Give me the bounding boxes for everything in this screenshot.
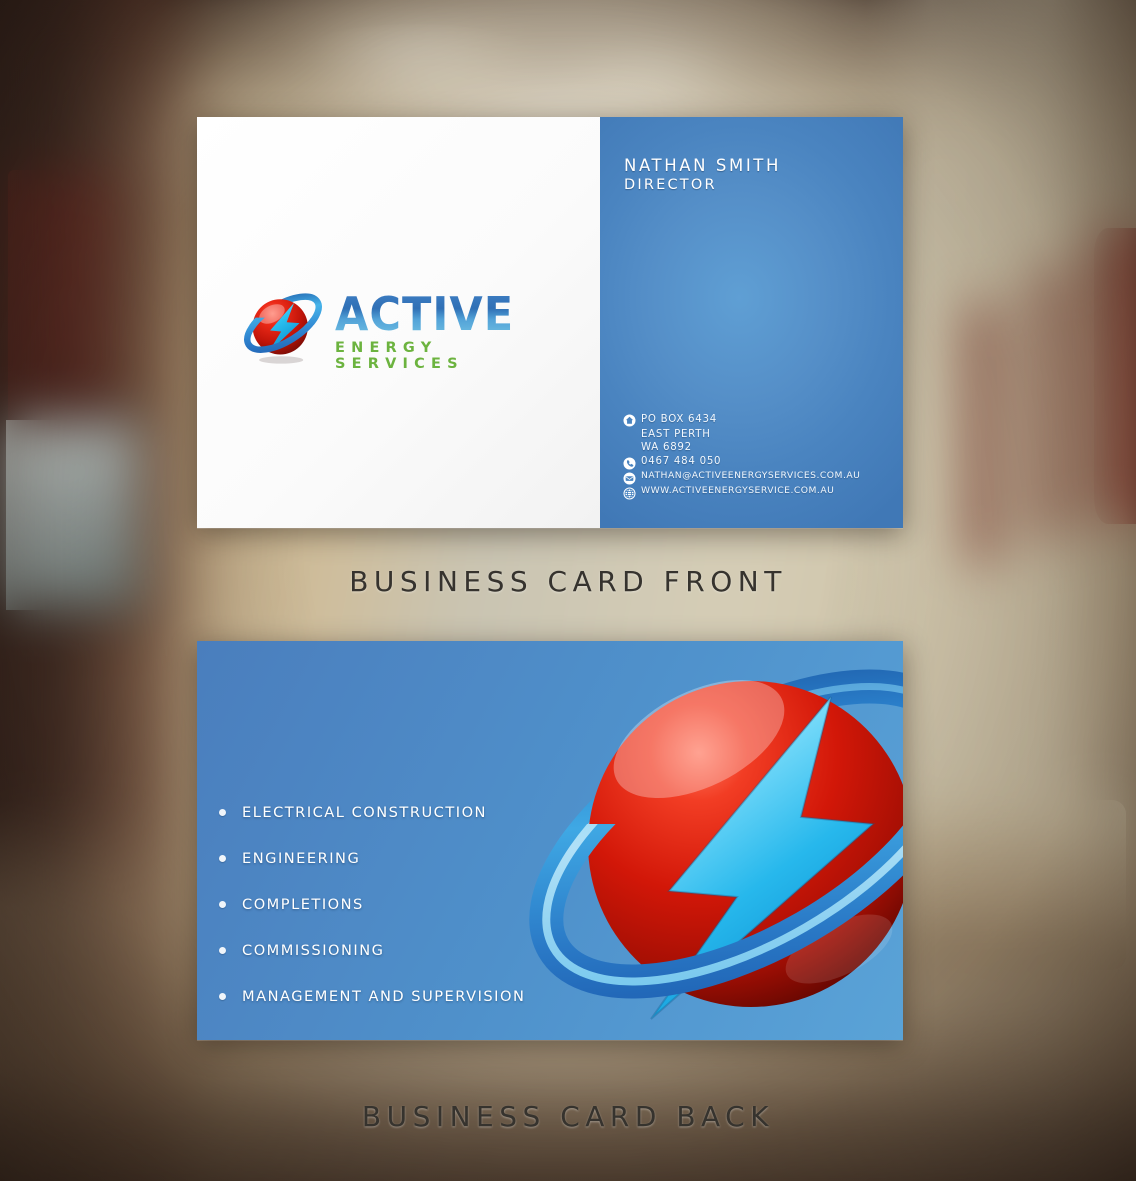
logo-company-name: ACTIVE: [335, 291, 576, 337]
envelope-icon: [622, 471, 636, 485]
front-card-info-panel: Nathan Smith Director PO Box 6434East Pe…: [600, 117, 903, 528]
sphere-lightning-orbit-logo-icon: [237, 279, 329, 371]
logo-tagline: ENERGY SERVICES: [335, 340, 567, 372]
contact-row[interactable]: WA 6892: [622, 441, 892, 455]
contact-row[interactable]: East Perth: [622, 428, 892, 442]
service-list-item[interactable]: Management and supervision: [215, 973, 615, 1019]
service-label: Engineering: [242, 850, 360, 867]
bullet-icon: [219, 901, 226, 908]
cardholder-name: Nathan Smith: [624, 157, 781, 176]
service-list-item[interactable]: Commissioning: [215, 927, 615, 973]
globe-icon: [622, 486, 636, 500]
contact-row-text: Nathan@activeenergyservices.com.au: [641, 470, 860, 482]
service-label: Electrical Construction: [242, 804, 487, 821]
bullet-icon: [219, 993, 226, 1000]
home-icon: [622, 414, 636, 428]
bullet-icon: [219, 947, 226, 954]
service-label: Completions: [242, 896, 364, 913]
contact-row[interactable]: Nathan@activeenergyservices.com.au: [622, 470, 892, 485]
phone-icon: [622, 456, 636, 470]
service-label: Management and supervision: [242, 988, 525, 1005]
logo-wordmark: ACTIVE ENERGY SERVICES: [335, 291, 567, 372]
cardholder-title: Director: [624, 177, 781, 194]
services-list: Electrical ConstructionEngineeringComple…: [215, 789, 615, 1019]
contact-row-text: PO Box 6434: [641, 413, 717, 427]
contact-row-text: WA 6892: [641, 441, 692, 455]
cardholder-block: Nathan Smith Director: [624, 157, 781, 194]
caption-back: Business Card Back: [0, 1100, 1136, 1133]
bullet-icon: [219, 855, 226, 862]
contact-row[interactable]: PO Box 6434: [622, 413, 892, 428]
service-list-item[interactable]: Completions: [215, 881, 615, 927]
caption-front: Business Card Front: [0, 565, 1136, 598]
front-card-logo-panel: ACTIVE ENERGY SERVICES: [197, 117, 600, 528]
contact-row-text: 0467 484 050: [641, 455, 721, 469]
service-label: Commissioning: [242, 942, 384, 959]
contact-details-list: PO Box 6434East PerthWA 68920467 484 050…: [622, 413, 892, 500]
bullet-icon: [219, 809, 226, 816]
service-list-item[interactable]: Engineering: [215, 835, 615, 881]
service-list-item[interactable]: Electrical Construction: [215, 789, 615, 835]
business-card-back[interactable]: Electrical ConstructionEngineeringComple…: [197, 641, 903, 1040]
contact-row-text: East Perth: [641, 428, 711, 442]
mockup-stage: ACTIVE ENERGY SERVICES Nathan Smith Dire…: [0, 0, 1136, 1181]
business-card-front[interactable]: ACTIVE ENERGY SERVICES Nathan Smith Dire…: [197, 117, 903, 528]
contact-row[interactable]: 0467 484 050: [622, 455, 892, 470]
contact-row[interactable]: www.activeenergyservice.com.au: [622, 485, 892, 500]
contact-row-text: www.activeenergyservice.com.au: [641, 485, 834, 497]
company-logo: ACTIVE ENERGY SERVICES: [237, 279, 567, 371]
